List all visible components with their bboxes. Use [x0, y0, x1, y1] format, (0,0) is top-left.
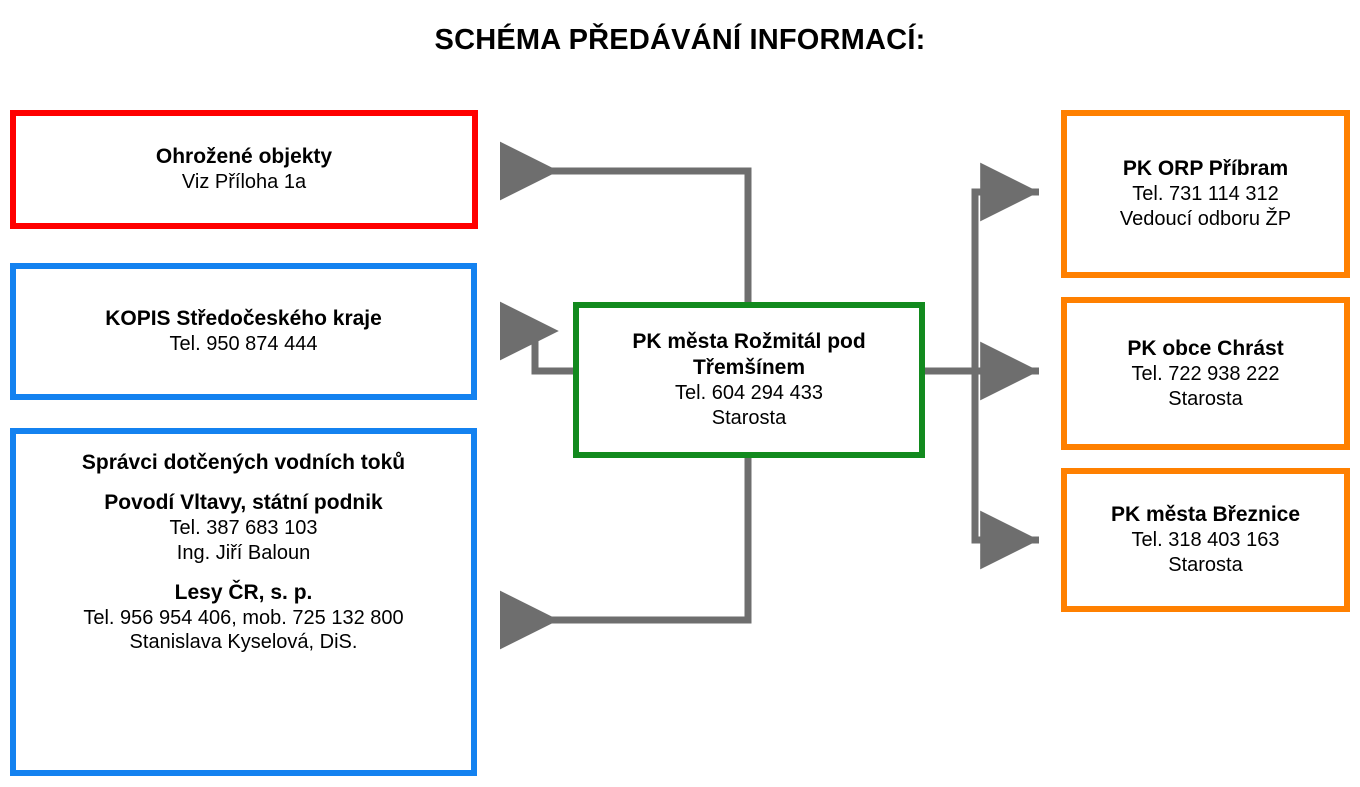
node-spravci-vodnich-toku[interactable]: Správci dotčených vodních toků Povodí Vl…	[10, 428, 477, 776]
node-spravci-lesy-cr-heading: Lesy ČR, s. p.	[175, 580, 313, 606]
node-pk-mesta-rozmital[interactable]: PK města Rožmitál pod Třemšínem Tel. 604…	[573, 302, 925, 458]
node-spravci-povodi-vltavy-phone: Tel. 387 683 103	[170, 516, 318, 541]
node-pk-rozmital-role: Starosta	[712, 406, 786, 431]
node-pk-breznice-heading: PK města Březnice	[1111, 502, 1300, 528]
page-title: SCHÉMA PŘEDÁVÁNÍ INFORMACÍ:	[0, 24, 1360, 57]
node-pk-chrast-heading: PK obce Chrást	[1127, 336, 1283, 362]
connector-pk-rozmital-to-spravci	[500, 456, 748, 620]
node-ohrozene-objekty-line-1: Viz Příloha 1a	[182, 170, 306, 195]
node-pk-rozmital-heading-line-1: PK města Rožmitál pod	[632, 329, 865, 355]
node-pk-rozmital-heading-line-2: Třemšínem	[693, 355, 805, 381]
node-pk-chrast-phone: Tel. 722 938 222	[1132, 362, 1280, 387]
connector-pk-rozmital-to-pk-orp-pribram	[975, 192, 1039, 371]
node-pk-orp-pribram-phone: Tel. 731 114 312	[1132, 182, 1278, 207]
node-pk-mesta-breznice[interactable]: PK města Březnice Tel. 318 403 163 Staro…	[1061, 468, 1350, 612]
node-spravci-lesy-cr-phone: Tel. 956 954 406, mob. 725 132 800	[83, 606, 403, 631]
node-pk-rozmital-phone: Tel. 604 294 433	[675, 381, 823, 406]
node-pk-orp-pribram-heading: PK ORP Příbram	[1123, 156, 1288, 182]
node-ohrozene-objekty[interactable]: Ohrožené objekty Viz Příloha 1a	[10, 110, 478, 229]
node-pk-orp-pribram[interactable]: PK ORP Příbram Tel. 731 114 312 Vedoucí …	[1061, 110, 1350, 278]
node-pk-obce-chrast[interactable]: PK obce Chrást Tel. 722 938 222 Starosta	[1061, 297, 1350, 450]
connector-pk-rozmital-to-kopis	[500, 331, 575, 371]
connector-pk-rozmital-to-ohrozene-objekty	[500, 171, 748, 304]
node-pk-breznice-role: Starosta	[1168, 553, 1242, 578]
node-kopis[interactable]: KOPIS Středočeského kraje Tel. 950 874 4…	[10, 263, 477, 400]
diagram-canvas: SCHÉMA PŘEDÁVÁNÍ INFORMACÍ:	[0, 0, 1360, 787]
node-spravci-heading: Správci dotčených vodních toků	[82, 450, 405, 476]
node-spravci-lesy-cr-contact: Stanislava Kyselová, DiS.	[130, 630, 358, 655]
node-spravci-povodi-vltavy-heading: Povodí Vltavy, státní podnik	[104, 490, 383, 516]
node-pk-orp-pribram-role: Vedoucí odboru ŽP	[1120, 207, 1291, 232]
node-kopis-line-1: Tel. 950 874 444	[170, 332, 318, 357]
node-pk-chrast-role: Starosta	[1168, 387, 1242, 412]
node-pk-breznice-phone: Tel. 318 403 163	[1132, 528, 1280, 553]
connector-pk-rozmital-to-pk-breznice	[975, 371, 1039, 540]
node-ohrozene-objekty-heading: Ohrožené objekty	[156, 144, 332, 170]
node-spravci-povodi-vltavy-contact: Ing. Jiří Baloun	[177, 541, 310, 566]
node-kopis-heading: KOPIS Středočeského kraje	[105, 306, 382, 332]
